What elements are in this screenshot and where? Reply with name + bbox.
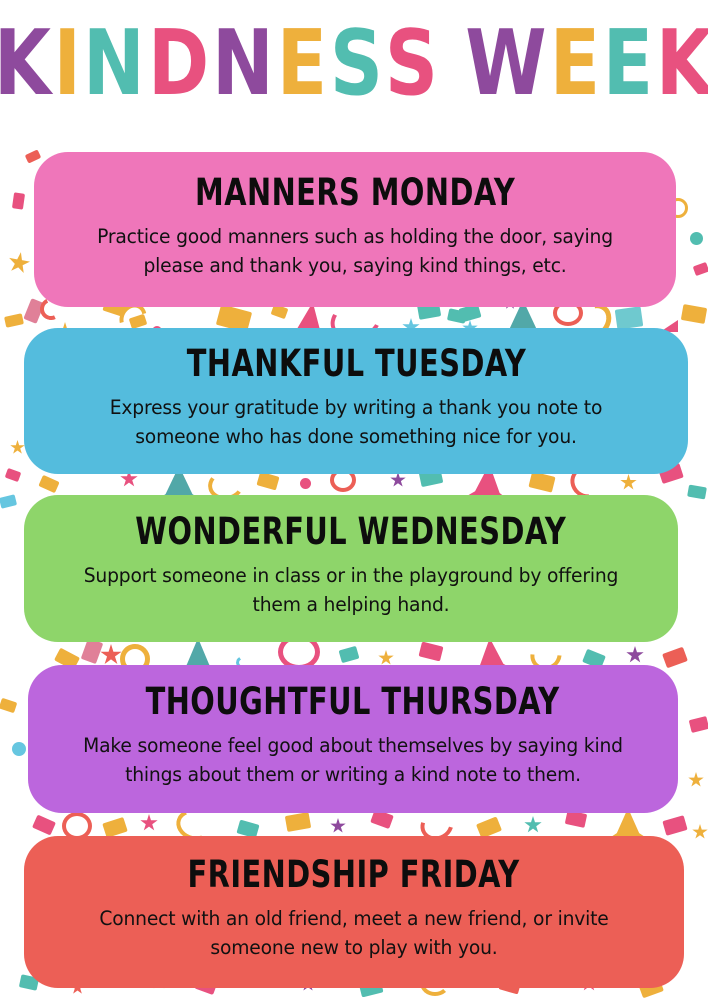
confetti-star-2 xyxy=(6,250,31,275)
day-card-monday[interactable]: MANNERS MONDAY Practice good manners suc… xyxy=(34,152,676,307)
confetti-rect-25 xyxy=(615,306,644,329)
day-description-monday: Practice good manners such as holding th… xyxy=(72,222,638,281)
confetti-star-79 xyxy=(524,816,542,834)
title-letter-s-7: S xyxy=(385,18,439,108)
title-letter-i-1: I xyxy=(54,18,82,108)
confetti-rect-38 xyxy=(256,472,279,491)
day-card-wednesday[interactable]: WONDERFUL WEDNESDAY Support someone in c… xyxy=(24,495,678,642)
confetti-star-41 xyxy=(390,472,406,488)
confetti-star-67 xyxy=(688,772,704,788)
confetti-rect-70 xyxy=(102,817,128,838)
confetti-rect-8 xyxy=(129,314,148,329)
confetti-rect-3 xyxy=(23,298,44,324)
confetti-rect-82 xyxy=(662,815,687,835)
confetti-rect-0 xyxy=(25,149,41,163)
confetti-rect-34 xyxy=(38,475,59,493)
title-letter-s-6: S xyxy=(330,18,384,108)
confetti-rect-29 xyxy=(693,262,708,276)
day-title-tuesday: THANKFUL TUESDAY xyxy=(186,345,525,385)
confetti-rect-18 xyxy=(447,308,467,323)
title-letter-n-2: N xyxy=(83,18,146,108)
title-letter-e-11: E xyxy=(603,18,654,108)
day-card-thursday[interactable]: THOUGHTFUL THURSDAY Make someone feel go… xyxy=(28,665,678,813)
day-card-tuesday[interactable]: THANKFUL TUESDAY Express your gratitude … xyxy=(24,328,688,474)
day-description-wednesday: Support someone in class or in the playg… xyxy=(63,561,639,620)
confetti-star-62 xyxy=(626,646,644,664)
confetti-rect-33 xyxy=(0,494,17,509)
confetti-rect-31 xyxy=(5,468,22,482)
title-letter-n-4: N xyxy=(212,18,275,108)
title-letter-e-5: E xyxy=(277,18,328,108)
day-title-friday: FRIENDSHIP FRIDAY xyxy=(188,856,520,896)
confetti-star-46 xyxy=(620,474,637,491)
confetti-rect-5 xyxy=(4,313,24,328)
confetti-star-32 xyxy=(10,440,25,455)
confetti-rect-56 xyxy=(339,646,360,663)
day-title-wednesday: WONDERFUL WEDNESDAY xyxy=(136,512,567,552)
title-letter-d-3: D xyxy=(148,18,210,108)
confetti-rect-66 xyxy=(689,716,708,733)
confetti-rect-74 xyxy=(285,812,311,832)
confetti-rect-1 xyxy=(12,192,25,209)
confetti-rect-44 xyxy=(528,471,555,492)
confetti-rect-58 xyxy=(419,642,444,662)
poster-header: KINDNESSWEEK xyxy=(0,0,708,140)
confetti-rect-63 xyxy=(662,647,688,669)
day-title-monday: MANNERS MONDAY xyxy=(195,173,515,213)
title-letter-k-12: K xyxy=(656,18,708,108)
confetti-star-75 xyxy=(330,818,346,834)
title-letter-e-10: E xyxy=(550,18,601,108)
confetti-dot-39 xyxy=(300,478,311,489)
day-card-friday[interactable]: FRIENDSHIP FRIDAY Connect with an old fr… xyxy=(24,836,684,988)
day-description-thursday: Make someone feel good about themselves … xyxy=(66,731,640,790)
title-letter-k-0: K xyxy=(0,18,52,108)
page-title: KINDNESSWEEK xyxy=(0,32,708,108)
kindness-week-poster: KINDNESSWEEK MANNERS MONDAY Practice goo… xyxy=(0,0,708,1000)
confetti-rect-27 xyxy=(681,304,707,324)
confetti-rect-68 xyxy=(32,815,56,836)
confetti-star-51 xyxy=(100,644,122,666)
confetti-star-57 xyxy=(378,650,394,666)
day-description-tuesday: Express your gratitude by writing a than… xyxy=(68,393,644,452)
confetti-dot-28 xyxy=(690,232,703,245)
confetti-star-71 xyxy=(140,814,158,832)
confetti-rect-65 xyxy=(0,698,17,713)
confetti-dot-64 xyxy=(12,742,26,756)
day-description-friday: Connect with an old friend, meet a new f… xyxy=(66,904,642,963)
confetti-rect-48 xyxy=(687,485,707,500)
confetti-star-83 xyxy=(692,824,708,840)
day-title-thursday: THOUGHTFUL THURSDAY xyxy=(146,683,560,723)
title-letter-w-9: W xyxy=(465,18,547,108)
